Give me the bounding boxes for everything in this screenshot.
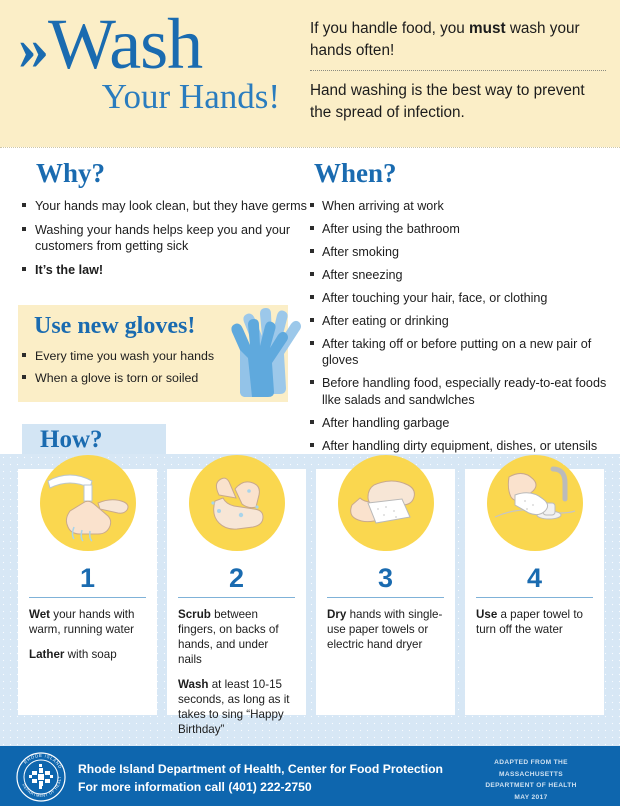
how-step-text: Dry hands with single-use paper towels o… (327, 607, 444, 652)
when-list-item: After handling garbage (308, 415, 620, 432)
how-step-divider (29, 597, 146, 598)
header-message-1: If you handle food, you must wash your h… (310, 18, 606, 61)
how-step-body: 3Dry hands with single-use paper towels … (316, 565, 455, 662)
svg-text:RHODE ISLAND: RHODE ISLAND (23, 753, 63, 770)
towel-turning-faucet-icon (487, 455, 583, 551)
how-step-card: 3Dry hands with single-use paper towels … (316, 469, 455, 715)
why-list-item: Washing your hands helps keep you and yo… (18, 222, 308, 255)
header-message-1-emphasis: must (469, 20, 506, 37)
how-step-body: 1Wet your hands with warm, running water… (18, 565, 157, 672)
how-step-text-emphasis: Lather (29, 648, 64, 661)
how-heading: How? (22, 424, 166, 454)
header-bottom-divider (0, 147, 620, 148)
how-heading-tab: How? (22, 424, 166, 455)
when-list-item: After using the bathroom (308, 221, 620, 238)
how-step-text-rest: with soap (64, 648, 116, 661)
how-step-text-emphasis: Use (476, 608, 497, 621)
header-message-2: Hand washing is the best way to prevent … (310, 80, 606, 123)
footer-attribution-line: DEPARTMENT OF HEALTH (456, 780, 606, 792)
footer-attribution-line: MAY 2017 (456, 792, 606, 804)
footer-attribution-line: MASSACHUSETTS (456, 769, 606, 781)
when-list-item: After handling dirty equipment, dishes, … (308, 438, 620, 455)
when-list-item: After taking off or before putting on a … (308, 336, 620, 369)
when-list-item: After smoking (308, 244, 620, 261)
footer-line-2: For more information call (401) 222-2750 (78, 778, 443, 796)
how-step-text: Wash at least 10-15 seconds, as long as … (178, 677, 295, 737)
hand-with-paper-towel-icon (338, 455, 434, 551)
header-message-1-before: If you handle food, you (310, 20, 469, 37)
why-list-item: Your hands may look clean, but they have… (18, 198, 308, 215)
footer-attribution: ADAPTED FROM THEMASSACHUSETTSDEPARTMENT … (456, 757, 606, 803)
how-step-text-emphasis: Wash (178, 678, 209, 691)
title-block: » Wash Your Hands! (0, 0, 300, 147)
hands-scrubbing-icon (189, 455, 285, 551)
footer-attribution-line: ADAPTED FROM THE (456, 757, 606, 769)
footer-line-1: Rhode Island Department of Health, Cente… (78, 760, 443, 778)
why-section: Why? Your hands may look clean, but they… (18, 158, 308, 286)
how-step-text: Wet your hands with warm, running water (29, 607, 146, 637)
how-step-text-emphasis: Scrub (178, 608, 211, 621)
how-step-card: 1Wet your hands with warm, running water… (18, 469, 157, 715)
header-divider (310, 70, 606, 71)
hand-under-faucet-icon (40, 455, 136, 551)
how-step-card: 2Scrub between fingers, on backs of hand… (167, 469, 306, 715)
how-step-divider (476, 597, 593, 598)
double-chevron-icon: » (18, 20, 46, 79)
footer-agency-info: Rhode Island Department of Health, Cente… (78, 760, 443, 797)
why-list-item: It’s the law! (18, 262, 308, 279)
how-step-divider (178, 597, 295, 598)
when-list-item: When arriving at work (308, 198, 620, 215)
how-step-number: 1 (29, 565, 146, 592)
how-step-divider (327, 597, 444, 598)
how-step-number: 2 (178, 565, 295, 592)
why-list: Your hands may look clean, but they have… (18, 198, 308, 279)
how-step-card: 4Use a paper towel to turn off the water (465, 469, 604, 715)
hand-washing-poster: » Wash Your Hands! If you handle food, y… (0, 0, 620, 806)
when-list-item: After touching your hair, face, or cloth… (308, 290, 620, 307)
how-step-number: 3 (327, 565, 444, 592)
how-step-body: 4Use a paper towel to turn off the water (465, 565, 604, 647)
when-heading: When? (314, 158, 620, 189)
how-step-body: 2Scrub between fingers, on backs of hand… (167, 565, 306, 748)
how-step-number: 4 (476, 565, 593, 592)
page-title: Wash (48, 14, 202, 76)
how-step-text: Use a paper towel to turn off the water (476, 607, 593, 637)
how-step-text-emphasis: Dry (327, 608, 346, 621)
why-heading: Why? (36, 158, 308, 189)
rubber-gloves-icon (222, 300, 308, 398)
header-messages: If you handle food, you must wash your h… (300, 0, 620, 147)
poster-header: » Wash Your Hands! If you handle food, y… (0, 0, 620, 147)
when-list-item: After eating or drinking (308, 313, 620, 330)
rhode-island-department-of-health-seal-icon: RHODE ISLAND DEPARTMENT OF HEALTH (16, 752, 66, 802)
how-step-text: Lather with soap (29, 647, 146, 662)
when-list-item: After sneezing (308, 267, 620, 284)
how-step-text: Scrub between fingers, on backs of hands… (178, 607, 295, 667)
when-list-item: Before handling food, especially ready-t… (308, 375, 620, 408)
how-step-text-emphasis: Wet (29, 608, 50, 621)
how-steps-container: 1Wet your hands with warm, running water… (18, 469, 604, 715)
seal-top-text: RHODE ISLAND (23, 753, 63, 770)
